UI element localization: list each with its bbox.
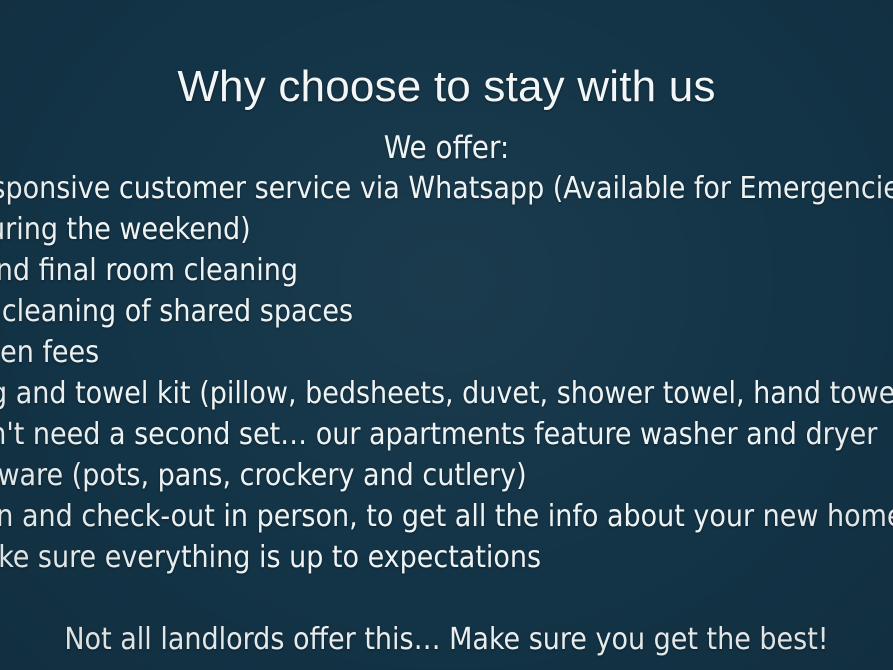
offer-list-item: No hidden fees xyxy=(0,332,893,373)
slide-tagline: Not all landlords offer this… Make sure … xyxy=(0,620,893,660)
offer-list-item: Very responsive customer service via Wha… xyxy=(0,168,893,209)
offer-list-item: Kitchenware (pots, pans, crockery and cu… xyxy=(0,455,893,496)
offer-list-item: Initial and final room cleaning xyxy=(0,250,893,291)
offer-list-item: You won't need a second set… our apartme… xyxy=(0,414,893,455)
slide-title: Why choose to stay with us xyxy=(0,62,893,112)
slide-subtitle: We offer: xyxy=(0,129,893,167)
offer-list: Very responsive customer service via Wha… xyxy=(0,168,893,619)
offer-list-spacer xyxy=(0,578,893,619)
offer-list-item: Check-in and check-out in person, to get… xyxy=(0,496,893,537)
slide-canvas: Why choose to stay with us We offer: Ver… xyxy=(0,0,893,670)
offer-list-item: Bedding and towel kit (pillow, bedsheets… xyxy=(0,373,893,414)
offer-list-item: and make sure everything is up to expect… xyxy=(0,537,893,578)
offer-list-item: Weekly cleaning of shared spaces xyxy=(0,291,893,332)
offer-list-item: even during the weekend) xyxy=(0,209,893,250)
